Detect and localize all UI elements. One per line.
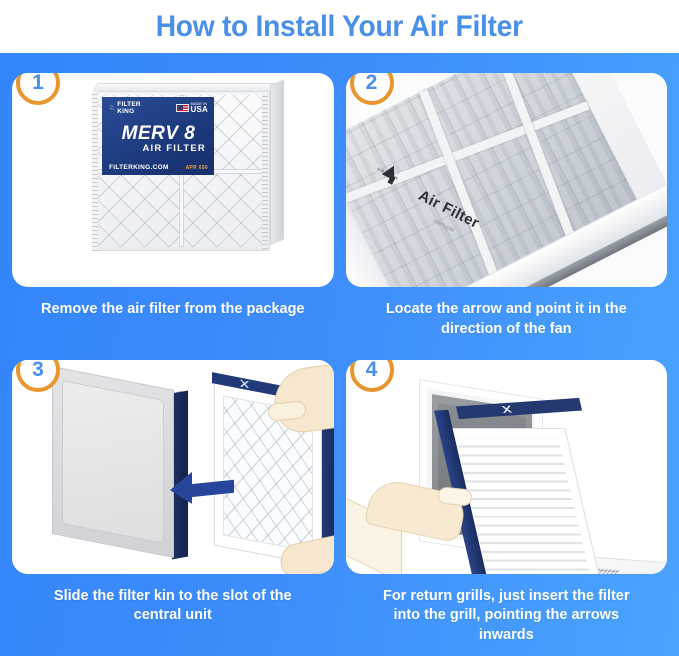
label-bottom-row: FILTERKING.COM APR 650	[109, 164, 208, 171]
made-in-usa-text: MADE IN USA	[191, 102, 209, 114]
filter-king-logo: ♘ FILTER KING	[109, 102, 141, 115]
label-middle: MERV 8 AIR FILTER	[109, 125, 208, 154]
finger	[437, 486, 473, 506]
step-2-card: AIR FLOW Air Filter AIRFLOW 2	[346, 73, 668, 287]
step-4-card: 4	[346, 360, 668, 574]
merv8-filter-photo: ♘ FILTER KING MADE IN	[84, 81, 284, 263]
step-3-caption: Slide the filter kin to the slot of the …	[12, 587, 334, 626]
infographic-page: How to Install Your Air Filter	[0, 0, 679, 656]
steps-grid: ♘ FILTER KING MADE IN	[0, 53, 679, 656]
step-1-card: ♘ FILTER KING MADE IN	[12, 73, 334, 287]
step-4-number: 4	[366, 360, 378, 382]
crown-icon: ♘	[109, 105, 115, 112]
step-4-image	[346, 360, 668, 574]
step-4-caption: For return grills, just insert the filte…	[346, 587, 668, 646]
step-1-caption: Remove the air filter from the package	[12, 300, 334, 320]
step-2-caption: Locate the arrow and point it in the dir…	[346, 300, 668, 339]
step-3-image	[12, 360, 334, 574]
filter-pleats-right	[262, 93, 268, 249]
central-unit-panel	[62, 380, 164, 544]
filter-label: ♘ FILTER KING MADE IN	[102, 97, 214, 175]
usa-flag-icon	[176, 104, 189, 112]
page-title: How to Install Your Air Filter	[156, 10, 523, 44]
step-2-image: AIR FLOW Air Filter AIRFLOW	[346, 73, 668, 287]
step-1: ♘ FILTER KING MADE IN	[12, 73, 334, 360]
step-2-number: 2	[366, 73, 378, 95]
brand-text: FILTER KING	[117, 102, 140, 115]
made-in-usa-badge: MADE IN USA	[176, 102, 209, 114]
step-2: AIR FLOW Air Filter AIRFLOW 2 Locate the…	[346, 73, 668, 360]
header-band: How to Install Your Air Filter	[0, 0, 679, 53]
filter-side-edge	[270, 79, 284, 245]
direction-arrow-head-icon	[170, 471, 192, 505]
step-3: 3 Slide the filter kin to the slot of th…	[12, 360, 334, 647]
label-top-row: ♘ FILTER KING MADE IN	[109, 102, 208, 115]
step-3-card: 3	[12, 360, 334, 574]
filter-pleats-left	[92, 91, 98, 251]
step-1-image: ♘ FILTER KING MADE IN	[12, 73, 334, 287]
step-1-number: 1	[32, 73, 44, 95]
step-4: 4 For return grills, just insert the fil…	[346, 360, 668, 647]
step-3-number: 3	[32, 360, 44, 382]
